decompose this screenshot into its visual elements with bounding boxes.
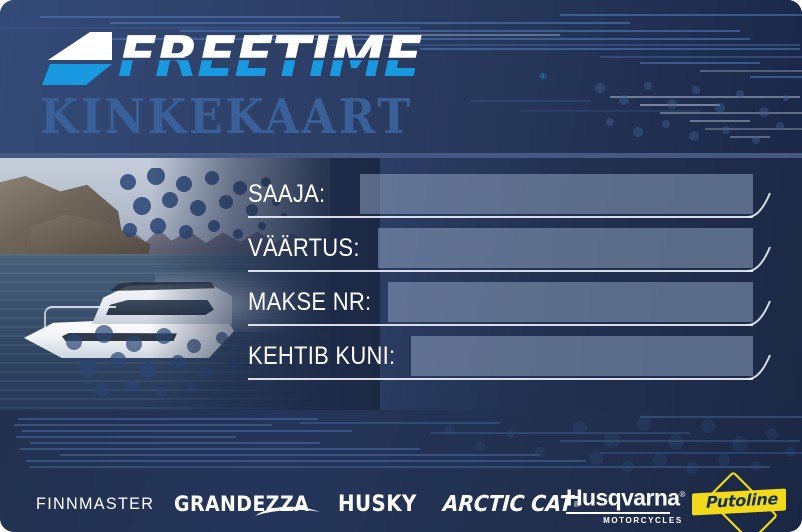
footer-texture-pattern — [330, 410, 802, 476]
brand-logo-husqvarna: Husqvarna® MOTORCYCLES — [566, 476, 685, 532]
gift-card: FREETIME FREETIME ® KINKEKAART — [0, 0, 802, 532]
husqvarna-rule — [566, 512, 670, 514]
field-vaartus-rule — [248, 270, 753, 272]
field-vaartus-hook-icon — [746, 246, 772, 272]
field-makse-nr-label: MAKSE NR: — [248, 280, 371, 324]
brand-husqvarna-text: Husqvarna — [566, 485, 679, 511]
freetime-wordmark: FREETIME FREETIME — [118, 29, 548, 89]
field-vaartus-input[interactable] — [378, 228, 753, 268]
sail-mark-icon — [42, 30, 116, 88]
field-saaja-rule — [248, 216, 753, 218]
brand-finnmaster-text: FINNMASTER — [36, 494, 154, 514]
field-saaja-input[interactable] — [360, 174, 753, 214]
field-kehtib-kuni: KEHTIB KUNI: — [248, 334, 768, 380]
partner-brand-logos: FINNMASTER GRANDEZZA HUSKY ARCTIC CAT® H… — [0, 476, 802, 532]
field-makse-nr-input[interactable] — [388, 282, 753, 322]
field-kehtib-kuni-rule — [248, 378, 753, 380]
field-makse-nr-hook-icon — [746, 300, 772, 326]
brand-logo-arctic-cat: ARCTIC CAT® — [441, 476, 582, 532]
brand-husky-text: HUSKY — [338, 492, 417, 517]
field-makse-nr-rule — [248, 324, 753, 326]
brand-grandezza-text: GRANDEZZA — [174, 492, 309, 516]
gift-card-form: SAAJA: VÄÄRTUS: MAKSE NR: — [0, 158, 802, 410]
brand-logo-grandezza: GRANDEZZA — [174, 476, 309, 532]
freetime-logo: FREETIME FREETIME ® — [42, 30, 542, 88]
field-vaartus: VÄÄRTUS: — [248, 226, 768, 272]
field-saaja-hook-icon — [746, 192, 772, 218]
brand-arctic-cat-text: ARCTIC CAT — [442, 492, 574, 517]
card-footer: FINNMASTER GRANDEZZA HUSKY ARCTIC CAT® H… — [0, 410, 802, 532]
field-kehtib-kuni-hook-icon — [746, 354, 772, 380]
brand-husqvarna-subtitle: MOTORCYCLES — [603, 516, 685, 525]
brand-logo-putoline: Putoline MOTORCYCLE OILS — [692, 478, 786, 530]
field-kehtib-kuni-label: KEHTIB KUNI: — [248, 334, 395, 378]
field-makse-nr: MAKSE NR: — [248, 280, 768, 326]
field-saaja: SAAJA: — [248, 172, 768, 218]
brand-husqvarna-registered: ® — [679, 490, 684, 499]
registered-mark: ® — [540, 72, 546, 81]
brand-logo-husky: HUSKY — [338, 476, 417, 532]
card-subtitle: KINKEKAART — [40, 92, 413, 142]
field-kehtib-kuni-input[interactable] — [411, 336, 753, 376]
field-saaja-label: SAAJA: — [248, 172, 325, 216]
brand-logo-finnmaster: FINNMASTER — [36, 476, 154, 532]
field-vaartus-label: VÄÄRTUS: — [248, 226, 360, 270]
card-header: FREETIME FREETIME ® KINKEKAART — [0, 0, 802, 155]
